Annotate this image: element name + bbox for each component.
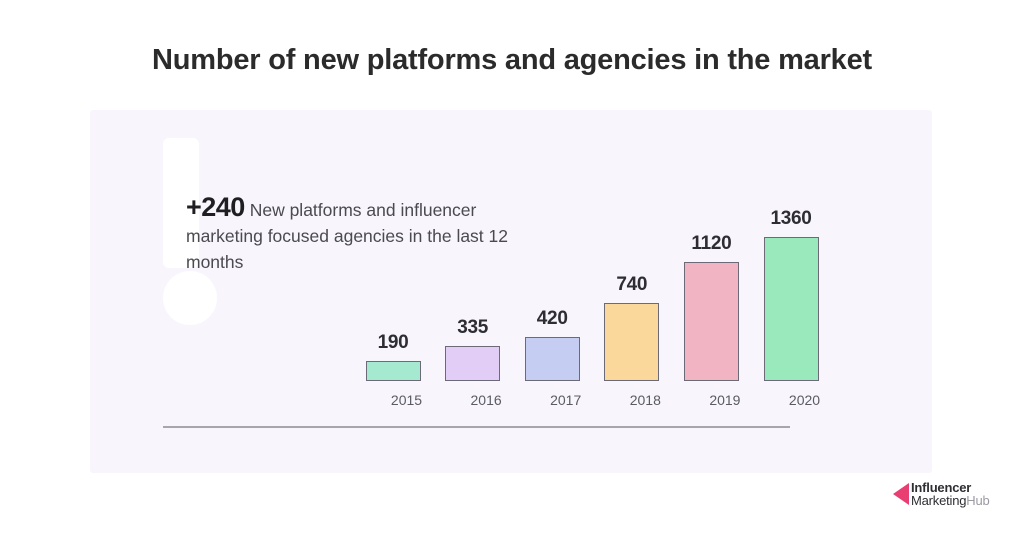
x-axis-tick-label: 2019 bbox=[685, 392, 765, 408]
bar-group[interactable]: 13602020 bbox=[751, 208, 831, 381]
chart-canvas: Number of new platforms and agencies in … bbox=[0, 0, 1024, 536]
bar-value-label: 335 bbox=[433, 317, 513, 339]
brand-logo[interactable]: Influencer MarketingHub bbox=[893, 481, 990, 507]
x-axis-tick-label: 2020 bbox=[765, 392, 845, 408]
bar-group[interactable]: 3352016 bbox=[433, 317, 513, 381]
bar-value-label: 1120 bbox=[671, 233, 751, 255]
bar-group[interactable]: 4202017 bbox=[512, 308, 592, 381]
bar-value-label: 1360 bbox=[751, 208, 831, 230]
bar-rect[interactable]: 2016 bbox=[445, 346, 500, 381]
bar-rect[interactable]: 2020 bbox=[764, 237, 819, 381]
x-axis-tick-label: 2018 bbox=[605, 392, 685, 408]
bar-group[interactable]: 1902015 bbox=[353, 332, 433, 381]
bar-value-label: 740 bbox=[592, 274, 672, 296]
bar-rect[interactable]: 2018 bbox=[604, 303, 659, 381]
chart-panel: +240 New platforms and influencer market… bbox=[90, 110, 932, 473]
logo-line-marketinghub: MarketingHub bbox=[911, 494, 990, 507]
logo-word-hub: Hub bbox=[966, 493, 989, 508]
bar-rect[interactable]: 2017 bbox=[525, 337, 580, 381]
x-axis-tick-label: 2017 bbox=[526, 392, 606, 408]
plot-area: 1902015335201642020177402018112020191360… bbox=[163, 110, 863, 473]
bar-rect[interactable]: 2019 bbox=[684, 262, 739, 381]
logo-word-marketing: Marketing bbox=[911, 493, 966, 508]
bar-series: 1902015335201642020177402018112020191360… bbox=[163, 110, 863, 427]
bar-group[interactable]: 7402018 bbox=[592, 274, 672, 381]
bar-value-label: 190 bbox=[353, 332, 433, 354]
x-axis-tick-label: 2016 bbox=[446, 392, 526, 408]
triangle-arrow-icon bbox=[893, 483, 909, 505]
page-title: Number of new platforms and agencies in … bbox=[0, 44, 1024, 77]
bar-group[interactable]: 11202019 bbox=[671, 233, 751, 381]
bar-rect[interactable]: 2015 bbox=[366, 361, 421, 381]
logo-text: Influencer MarketingHub bbox=[911, 481, 990, 507]
x-axis-tick-label: 2015 bbox=[367, 392, 447, 408]
bar-value-label: 420 bbox=[512, 308, 592, 330]
